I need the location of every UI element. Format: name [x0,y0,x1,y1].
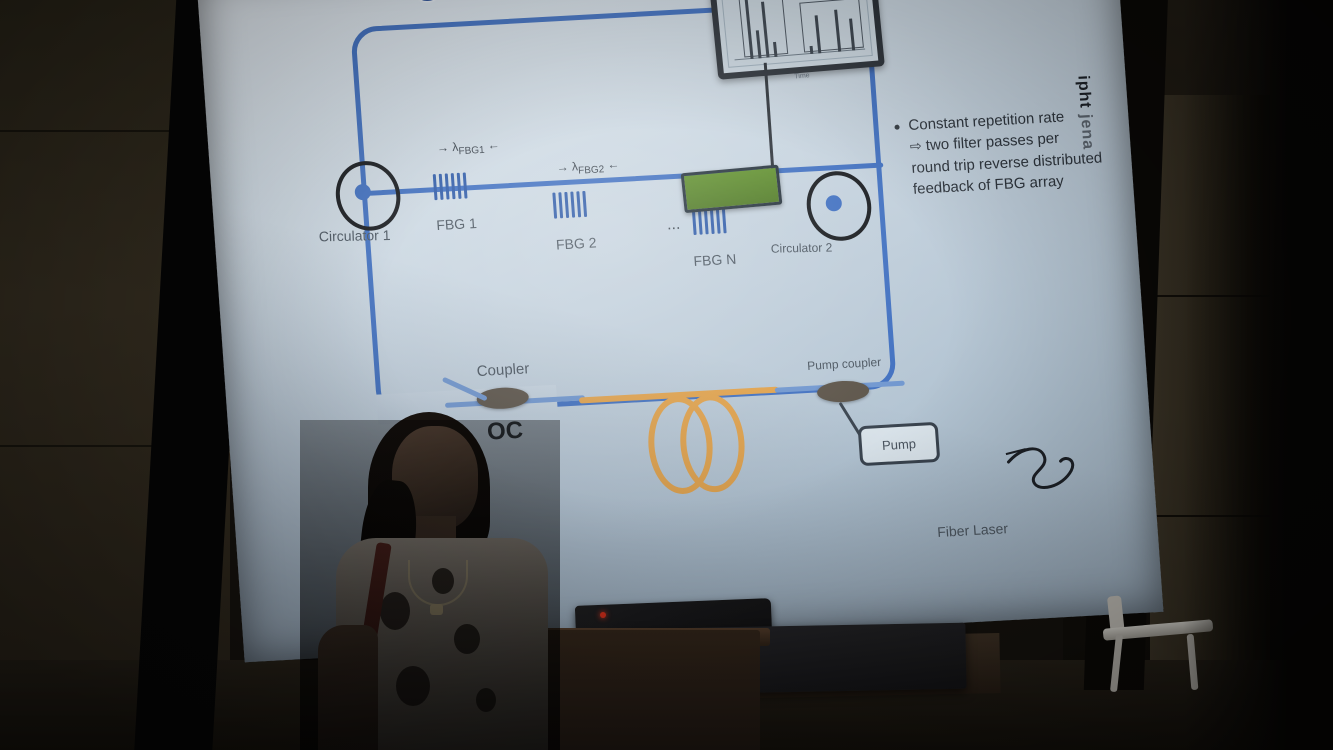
presenter-arm [318,625,378,750]
spectrum-monitor-inset: Spectral response Power Time [707,0,885,80]
fbg-ellipsis: ... [666,216,681,235]
pump-box: Pump [858,422,941,466]
presenter-pendant [430,604,443,615]
circulator-1-label: Circulator 1 [319,227,391,244]
fbg-2-label: FBG 2 [555,234,597,252]
fbg-1-grating [433,172,469,200]
logo-primary: ipht [1074,75,1093,109]
screenshot-stage: ing Principle with Theta Cavity Circulat… [0,0,1333,750]
right-corner-shadow [1183,0,1333,750]
presenter [300,420,560,750]
fbg-2-grating [552,191,588,219]
circulator-2-label: Circulator 2 [771,240,833,255]
coupler-label: Coupler [476,360,530,380]
bullet-dot-icon [894,125,899,130]
ipht-jena-logo: ipht jena [1073,75,1096,151]
monitor-plot-area: Power [719,0,873,68]
fbg-n-label: FBG N [693,251,737,269]
logo-secondary: jena [1077,114,1097,151]
power-led-icon [600,612,606,618]
bullet-block: Constant repetition rate ⇨ two filter pa… [908,103,1129,200]
right-arrow-icon: ⇨ [909,138,922,155]
fiber-laser-label: Fiber Laser [937,520,1009,540]
fbg-1-label: FBG 1 [436,215,478,233]
handwritten-annotation-icon [1001,435,1095,500]
